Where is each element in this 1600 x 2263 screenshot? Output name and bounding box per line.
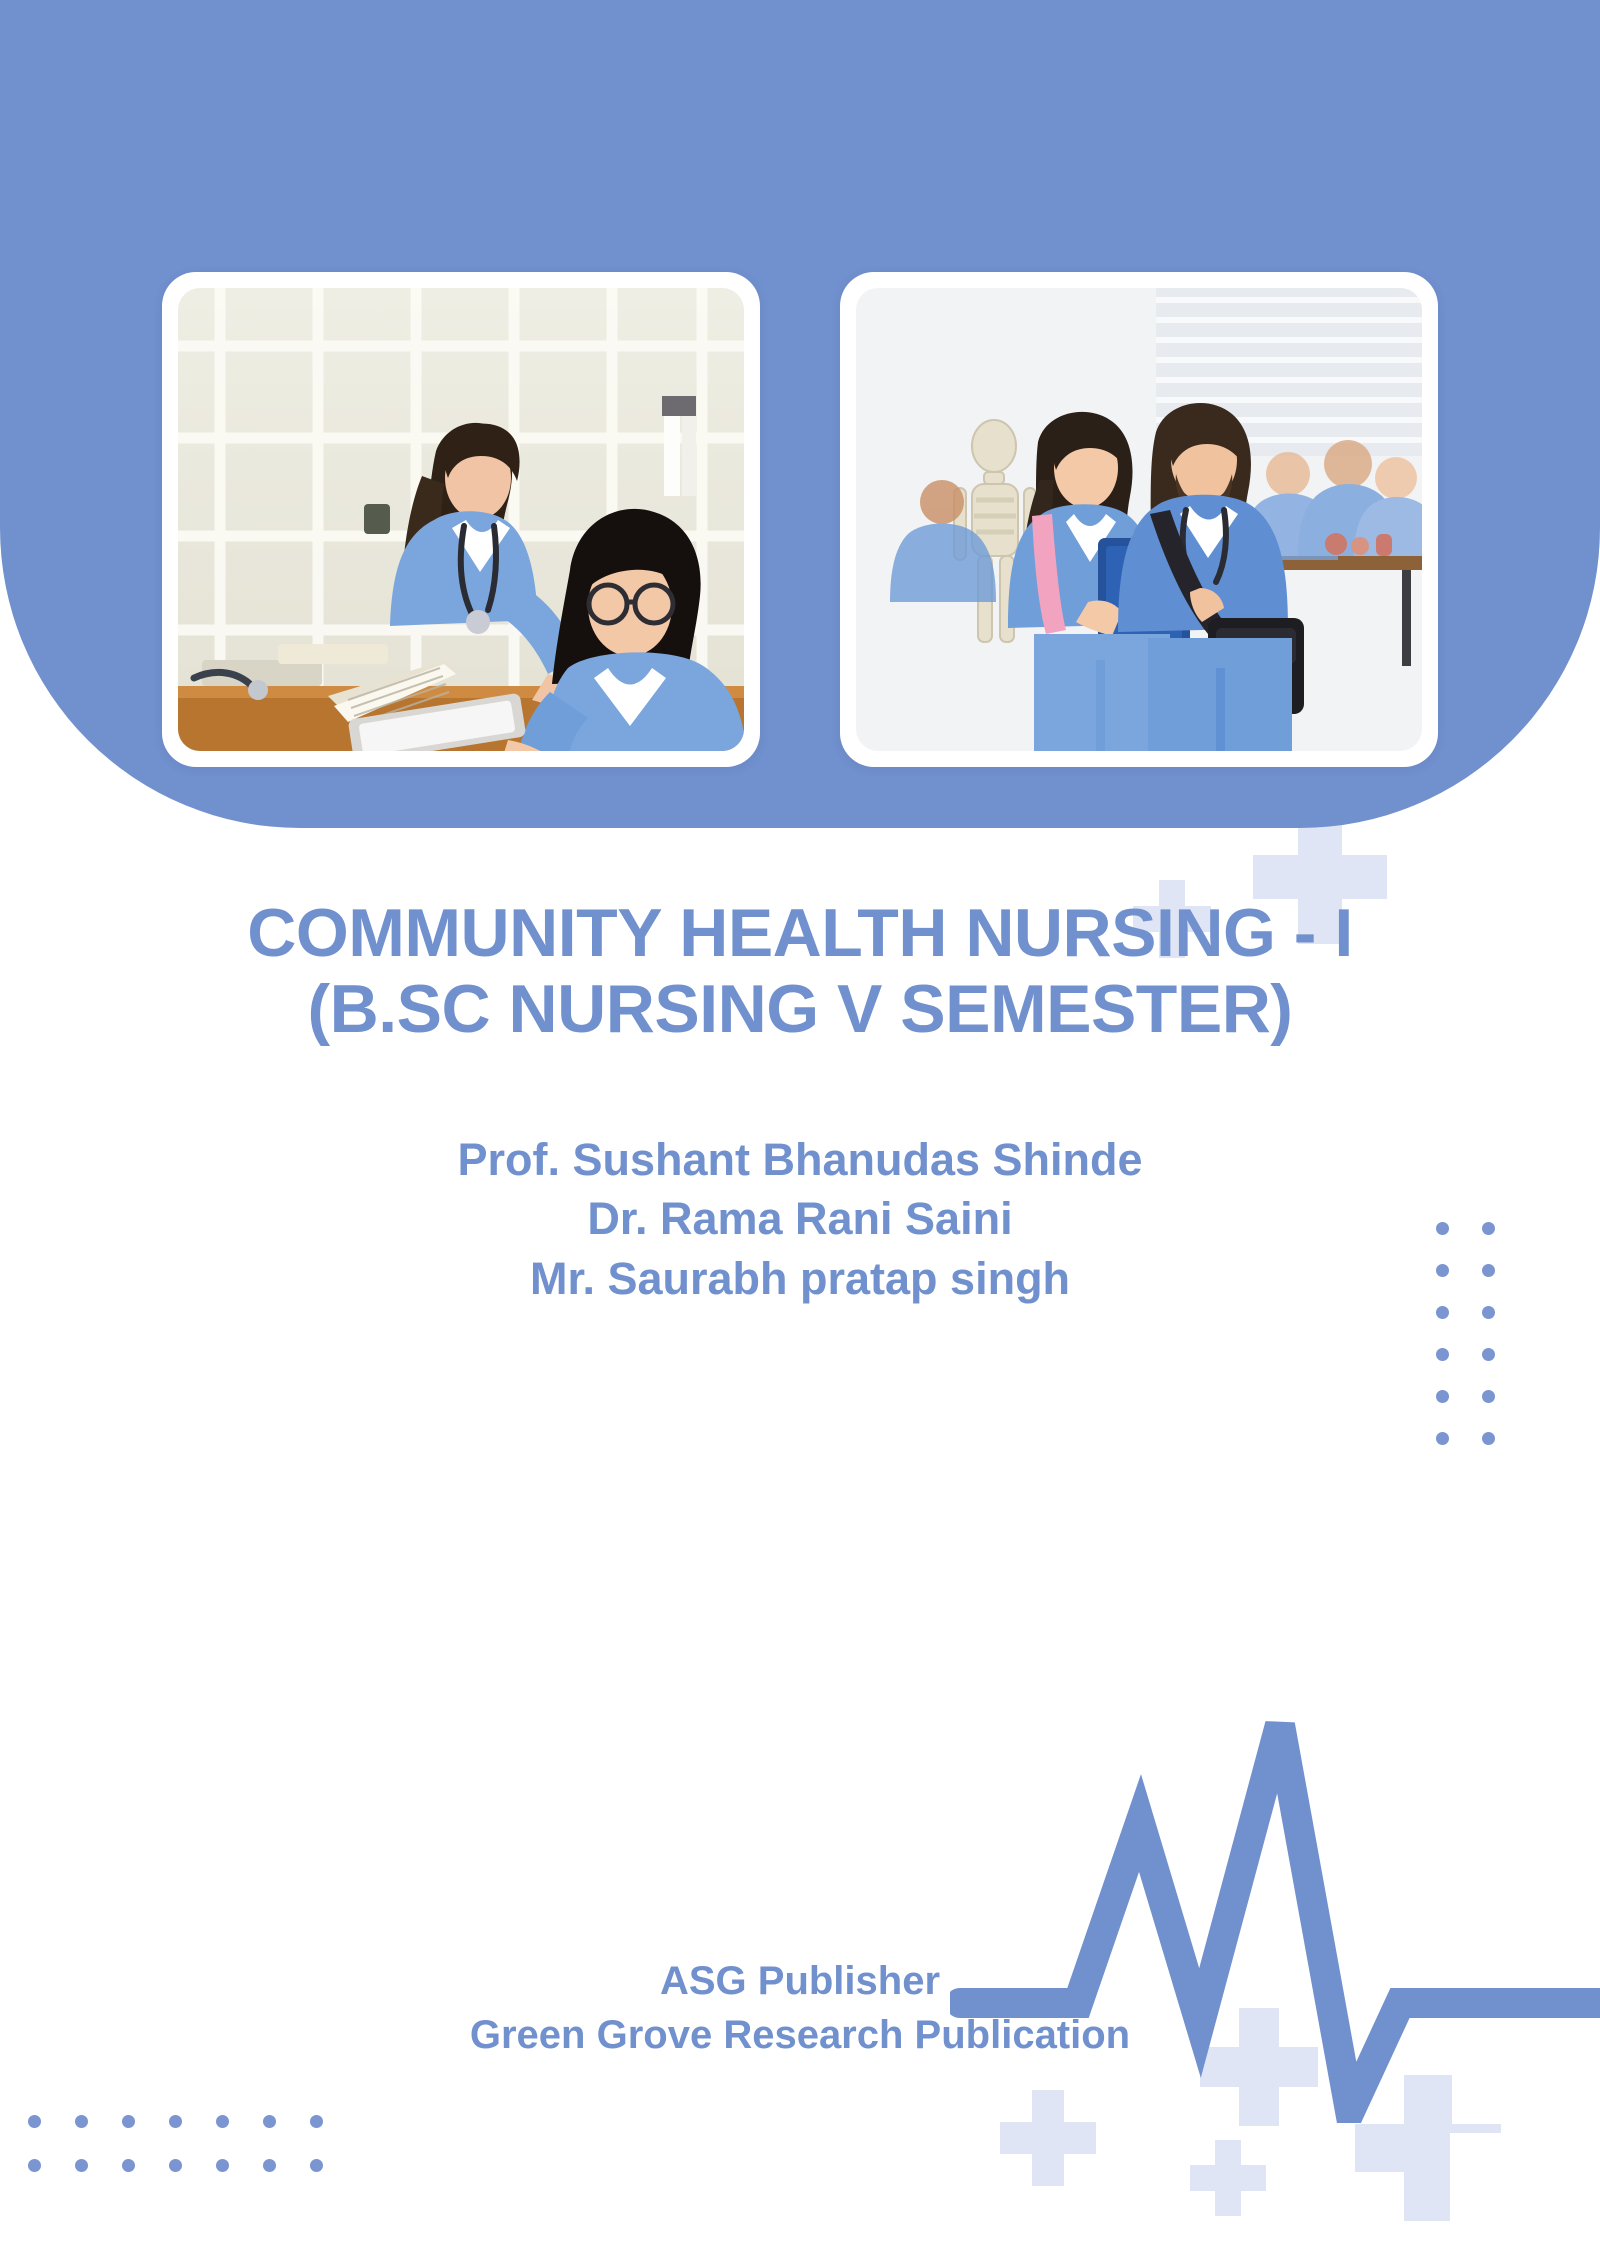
photo-card-right [840,272,1438,767]
dot [169,2115,182,2128]
dot [1482,1348,1495,1361]
photo-card-left [162,272,760,767]
author-list: Prof. Sushant Bhanudas Shinde Dr. Rama R… [0,1130,1600,1308]
medical-cross-icon [1190,2140,1266,2216]
dot [216,2115,229,2128]
author-name: Mr. Saurabh pratap singh [0,1249,1600,1308]
book-cover: COMMUNITY HEALTH NURSING - I (B.SC NURSI… [0,0,1600,2263]
dot [122,2159,135,2172]
dot [28,2115,41,2128]
dot [310,2159,323,2172]
dot [1482,1390,1495,1403]
publisher-block: ASG Publisher Green Grove Research Publi… [0,1955,1600,2062]
dot [1436,1390,1449,1403]
title-line-2: (B.SC NURSING V SEMESTER) [308,971,1293,1047]
dot [28,2159,41,2172]
nurses-studying-photo [178,288,744,751]
dot [263,2115,276,2128]
dot [263,2159,276,2172]
dot [75,2115,88,2128]
dot-grid-bottom-left [28,2115,357,2203]
dot [1482,1432,1495,1445]
dot [1436,1432,1449,1445]
dot [310,2115,323,2128]
nursing-students-classroom-photo [856,288,1422,751]
dot [169,2159,182,2172]
publisher-imprint: Green Grove Research Publication [0,2009,1600,2063]
title-block: COMMUNITY HEALTH NURSING - I (B.SC NURSI… [0,895,1600,1047]
dot [75,2159,88,2172]
title-line-1: COMMUNITY HEALTH NURSING - I [247,895,1352,971]
dot [216,2159,229,2172]
cover-photo-row [0,272,1600,767]
author-name: Dr. Rama Rani Saini [0,1189,1600,1248]
author-name: Prof. Sushant Bhanudas Shinde [0,1130,1600,1189]
dot [122,2115,135,2128]
dot [1436,1348,1449,1361]
banner-corner-notch-right [1450,2133,1600,2263]
page-title: COMMUNITY HEALTH NURSING - I (B.SC NURSI… [0,895,1600,1047]
publisher-name: ASG Publisher [0,1955,1600,2009]
